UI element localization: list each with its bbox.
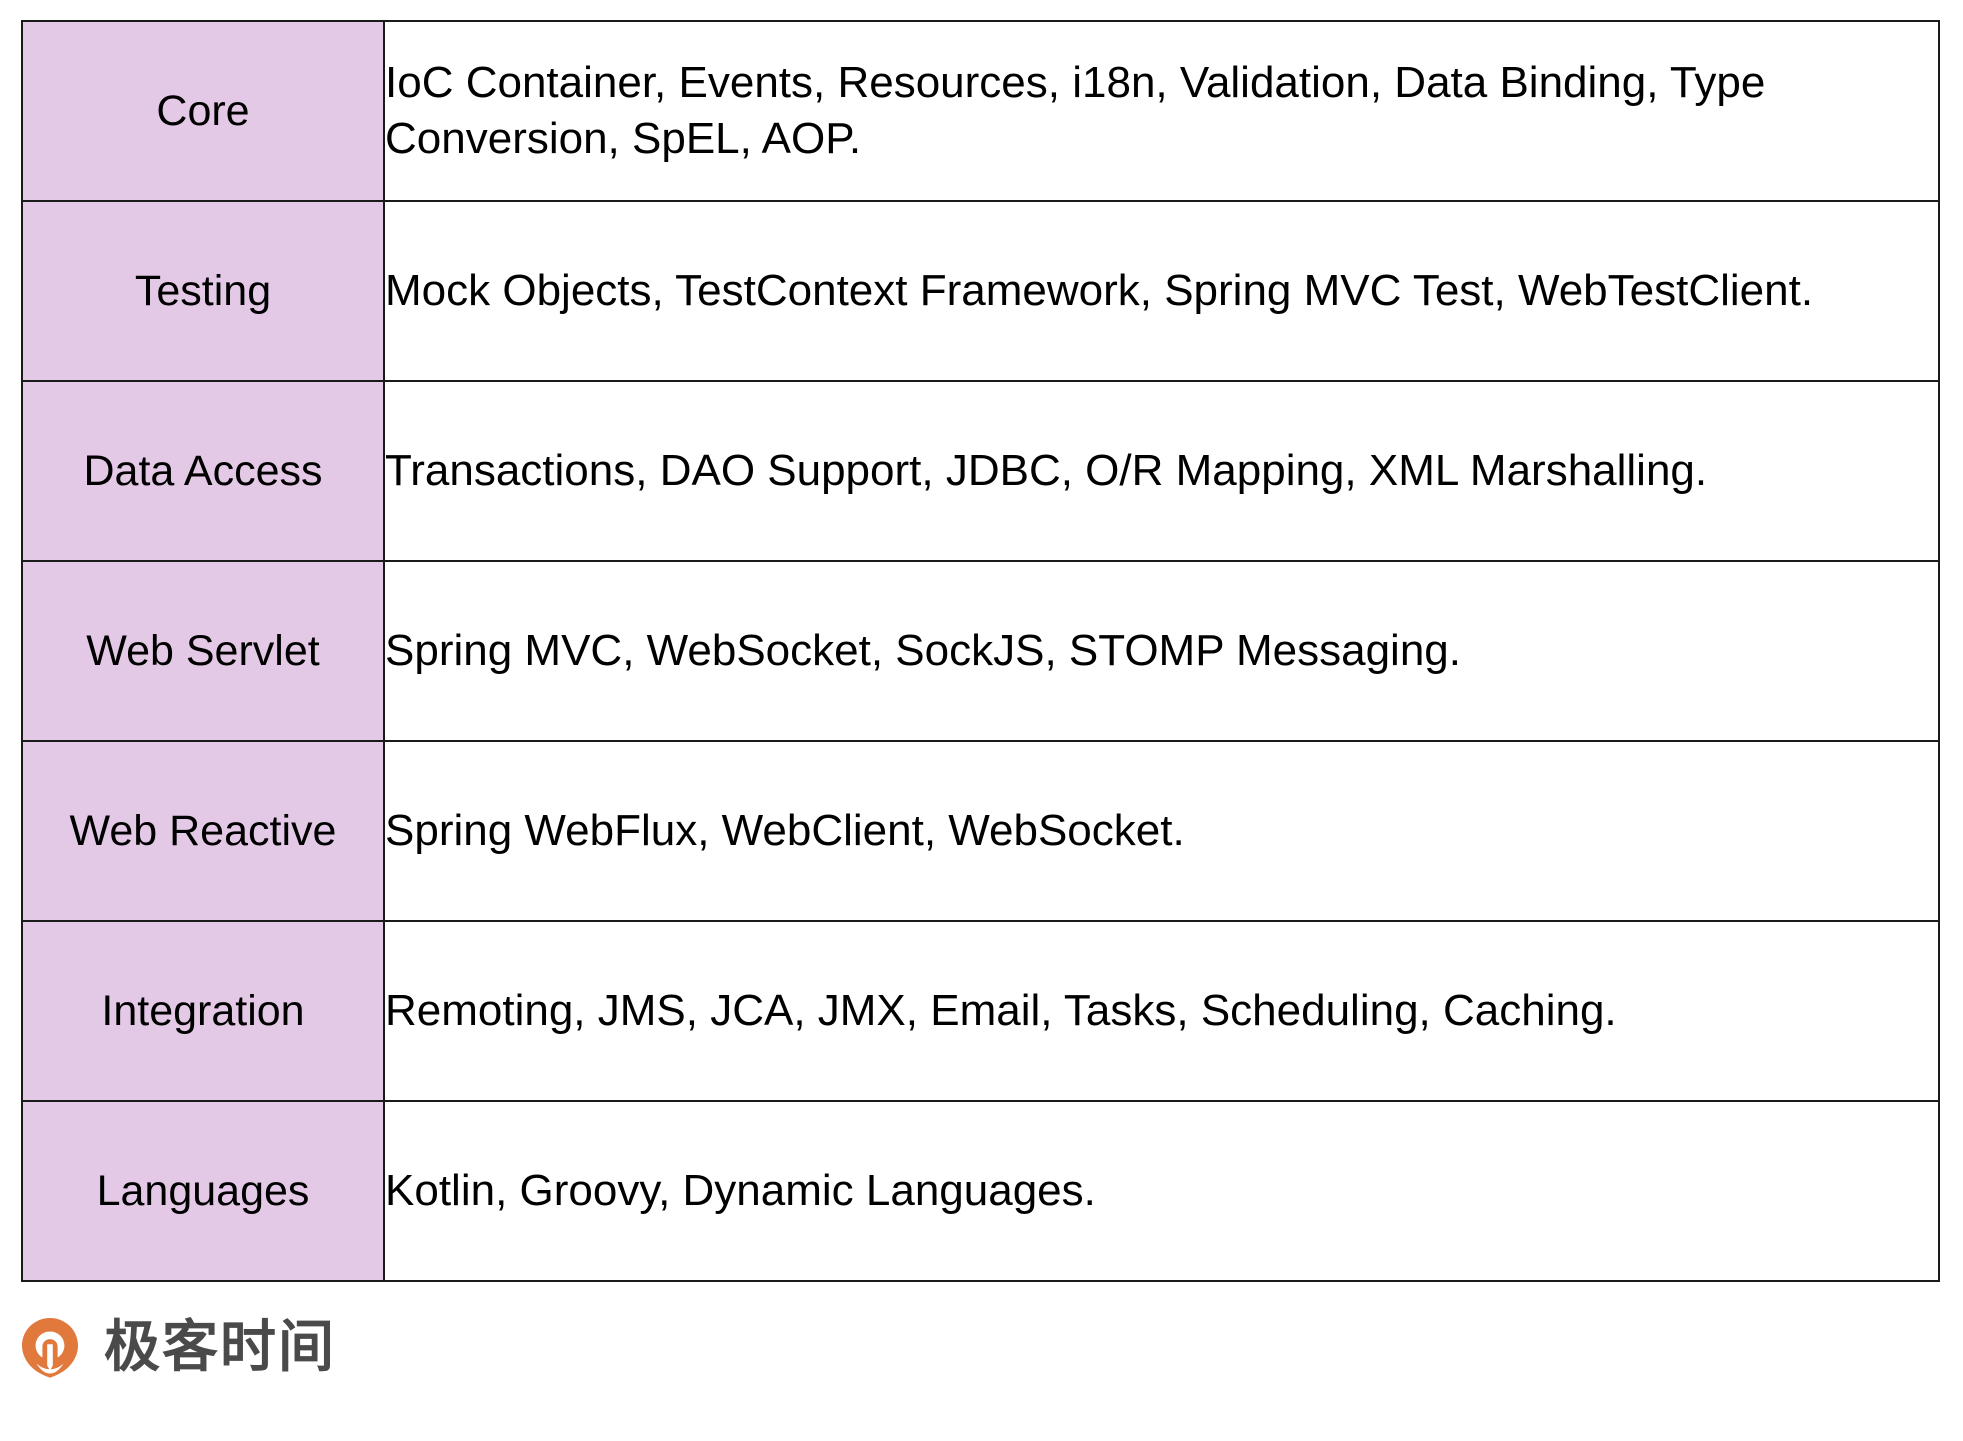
table-row: Testing Mock Objects, TestContext Framew… [22, 201, 1939, 381]
spring-modules-table: Core IoC Container, Events, Resources, i… [21, 20, 1940, 1282]
module-features-cell: Kotlin, Groovy, Dynamic Languages. [384, 1101, 1939, 1281]
module-label: Testing [135, 267, 271, 315]
table-body: Core IoC Container, Events, Resources, i… [22, 21, 1939, 1281]
table-row: Web Reactive Spring WebFlux, WebClient, … [22, 741, 1939, 921]
module-features-cell: Spring WebFlux, WebClient, WebSocket. [384, 741, 1939, 921]
geektime-mark-icon [18, 1316, 82, 1380]
module-features-cell: Remoting, JMS, JCA, JMX, Email, Tasks, S… [384, 921, 1939, 1101]
features-text: Spring WebFlux, WebClient, WebSocket. [385, 806, 1185, 855]
module-features-cell: IoC Container, Events, Resources, i18n, … [384, 21, 1939, 201]
module-name-cell: Testing [22, 201, 384, 381]
module-label: Web Servlet [86, 627, 319, 675]
module-name-cell: Web Servlet [22, 561, 384, 741]
slide-page: Core IoC Container, Events, Resources, i… [0, 0, 1963, 1441]
module-label: Data Access [84, 447, 323, 495]
features-text: Spring MVC, WebSocket, SockJS, STOMP Mes… [385, 626, 1461, 675]
features-text: IoC Container, Events, Resources, i18n, … [385, 58, 1765, 163]
table-row: Languages Kotlin, Groovy, Dynamic Langua… [22, 1101, 1939, 1281]
table-row: Core IoC Container, Events, Resources, i… [22, 21, 1939, 201]
module-features-cell: Spring MVC, WebSocket, SockJS, STOMP Mes… [384, 561, 1939, 741]
brand-logo: 极客时间 [18, 1316, 336, 1380]
module-name-cell: Web Reactive [22, 741, 384, 921]
module-label: Web Reactive [70, 807, 337, 855]
brand-name: 极客时间 [104, 1320, 336, 1376]
features-text: Transactions, DAO Support, JDBC, O/R Map… [385, 446, 1707, 495]
module-name-cell: Core [22, 21, 384, 201]
module-features-cell: Transactions, DAO Support, JDBC, O/R Map… [384, 381, 1939, 561]
features-text: Mock Objects, TestContext Framework, Spr… [385, 266, 1813, 315]
features-text: Remoting, JMS, JCA, JMX, Email, Tasks, S… [385, 986, 1617, 1035]
table-row: Integration Remoting, JMS, JCA, JMX, Ema… [22, 921, 1939, 1101]
module-features-cell: Mock Objects, TestContext Framework, Spr… [384, 201, 1939, 381]
module-name-cell: Integration [22, 921, 384, 1101]
module-label: Integration [101, 987, 304, 1035]
module-name-cell: Languages [22, 1101, 384, 1281]
features-text: Kotlin, Groovy, Dynamic Languages. [385, 1166, 1096, 1215]
module-label: Languages [97, 1167, 310, 1215]
table-row: Web Servlet Spring MVC, WebSocket, SockJ… [22, 561, 1939, 741]
module-label: Core [156, 87, 249, 135]
module-name-cell: Data Access [22, 381, 384, 561]
table-row: Data Access Transactions, DAO Support, J… [22, 381, 1939, 561]
